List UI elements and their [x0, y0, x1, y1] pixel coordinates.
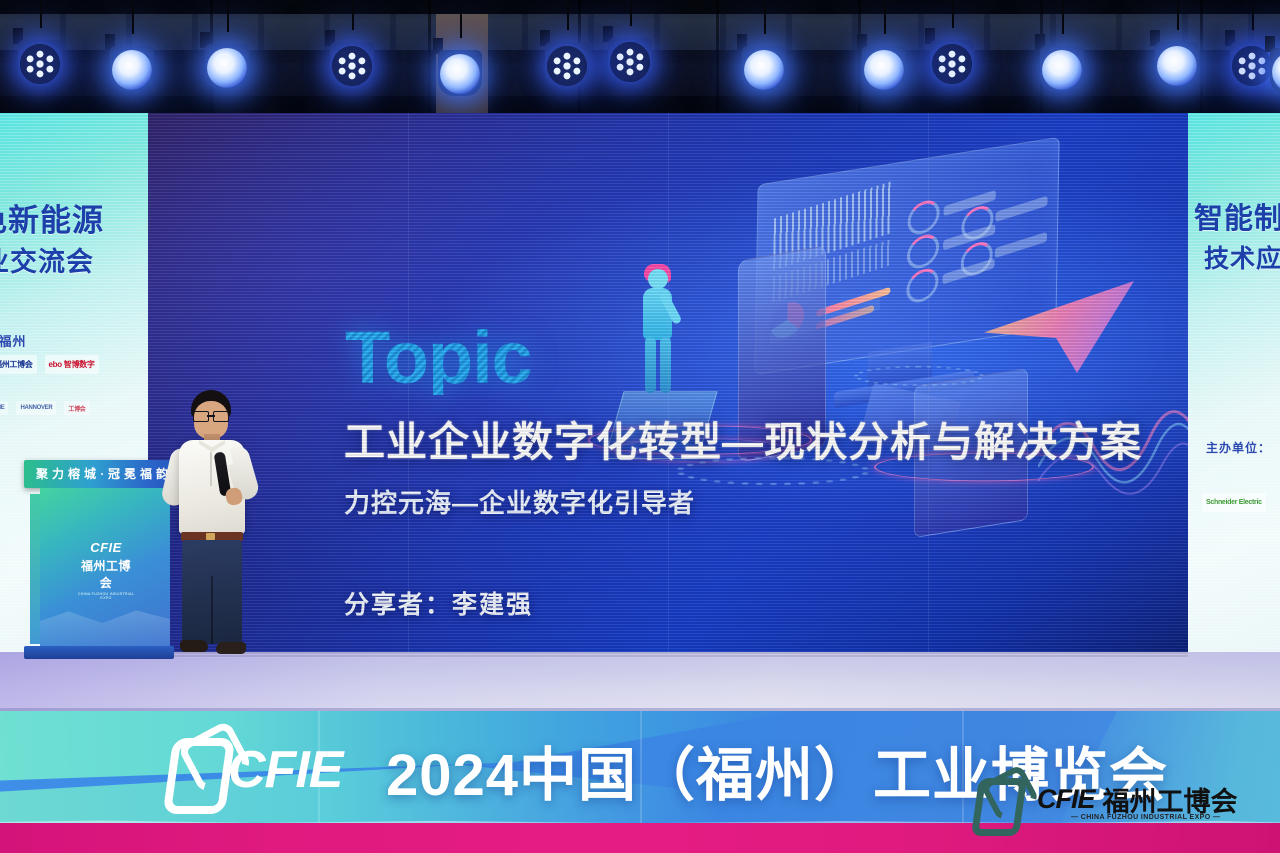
pink-carpet [0, 823, 1280, 853]
left-banner-line1: 绿色新能源 [0, 195, 104, 240]
light-cable [952, 0, 954, 28]
light-cable [40, 0, 42, 28]
podium: 聚力榕城·冠冕福韵 CFIE 福州工博会 CHINA FUZHOU INDUST… [30, 460, 180, 660]
right-banner-logo-row: Schneider Electric [1202, 493, 1266, 512]
light-cable [1177, 0, 1179, 30]
light-cable [1062, 0, 1064, 34]
sponsor-logo: 福州工博会 [0, 355, 37, 374]
gauge-graphic [906, 264, 939, 306]
cfie-wordmark: CFIE [228, 740, 342, 800]
light-cable [352, 0, 354, 30]
podium-base [24, 646, 174, 659]
ceiling-seam [1200, 0, 1203, 116]
led-presentation-screen: Topic 工业企业数字化转型—现状分析与解决方案 力控元海—企业数字化引导者 … [148, 113, 1188, 658]
light-cable [884, 0, 886, 34]
left-banner-city: 福 · 福州 [0, 331, 27, 350]
cfie-badge: CFIE 福州工博会 — CHINA FUZHOU INDUSTRIAL EXP… [975, 773, 1267, 825]
figure-leg [660, 337, 671, 393]
podium-logo: CFIE 福州工博会 CHINA FUZHOU INDUSTRIAL EXPO [76, 540, 136, 600]
screen-illustration [738, 133, 1188, 603]
speaker-shoe [216, 642, 246, 654]
truss-beam-top [0, 0, 1280, 14]
cfie-badge-cfie: CFIE [1037, 784, 1095, 815]
left-banner-logo-row-2: CFIE HANNOVER 工博会 [0, 401, 90, 415]
sponsor-logo: Schneider Electric [1202, 493, 1266, 512]
gauge-graphic [907, 196, 940, 238]
ceiling-seam [716, 0, 719, 116]
speaker-leg-seam [211, 576, 213, 644]
slide-title: 工业企业数字化转型—现状分析与解决方案 [344, 408, 1142, 468]
right-banner-line1: 智能制造 [1194, 195, 1280, 237]
light-cable [460, 0, 462, 38]
ceiling-seam [858, 0, 861, 116]
figure-leg [645, 337, 656, 393]
person-illustration-graphic [632, 269, 686, 399]
right-banner-host-label: 主办单位： [1206, 439, 1271, 456]
sponsor-logo: 工博会 [64, 401, 89, 415]
kpi-block-graphic [995, 232, 1047, 259]
podium-logo-cfie: CFIE [76, 540, 136, 555]
light-cable [764, 0, 766, 34]
podium-logo-en: CHINA FUZHOU INDUSTRIAL EXPO [76, 592, 136, 600]
stage-photo: 绿色新能源 行业交流会 福 · 福州 福州工博会 ebo 智博数字 CFIE H… [0, 0, 1280, 853]
speaker-belt-buckle [206, 533, 215, 540]
cfie-badge-mark-icon [975, 772, 1029, 826]
speaker-shoe [180, 640, 208, 652]
dotted-ring-graphic [854, 366, 984, 386]
sponsor-logo: ebo 智博数字 [45, 355, 99, 374]
figure-head [648, 269, 668, 289]
podium-logo-cn: 福州工博会 [76, 557, 136, 591]
cfie-badge-en: — CHINA FUZHOU INDUSTRIAL EXPO — [1071, 814, 1220, 821]
cfie-badge-cn: 福州工博会 [1103, 780, 1238, 819]
ceiling-seam [428, 0, 431, 116]
left-banner-logo-row-1: 福州工博会 ebo 智博数字 [0, 355, 99, 374]
light-cable [1252, 0, 1254, 30]
speaker-placket [210, 452, 212, 486]
right-banner-line2: 技术应 [1204, 239, 1280, 275]
eyeglasses-icon [193, 411, 229, 420]
sponsor-logo: CFIE [0, 401, 8, 415]
left-banner-line2: 行业交流会 [0, 240, 94, 279]
slide-speaker-line: 分享者：李建强 [344, 585, 533, 621]
light-cable [227, 0, 229, 32]
gauge-graphic [907, 230, 940, 272]
slide-topic-label: Topic [345, 321, 532, 395]
podium-slogan: 聚力榕城·冠冕福韵 [36, 465, 172, 482]
slide-subtitle: 力控元海—企业数字化引导者 [344, 483, 695, 520]
light-cable [567, 0, 569, 30]
speaker-person [160, 390, 260, 670]
light-cable [630, 0, 632, 26]
right-side-banner: 智能制造 技术应 主办单位： Schneider Electric [1188, 113, 1280, 658]
sponsor-logo: HANNOVER [16, 401, 56, 415]
kpi-block-graphic [995, 196, 1047, 223]
light-cable [132, 0, 134, 34]
